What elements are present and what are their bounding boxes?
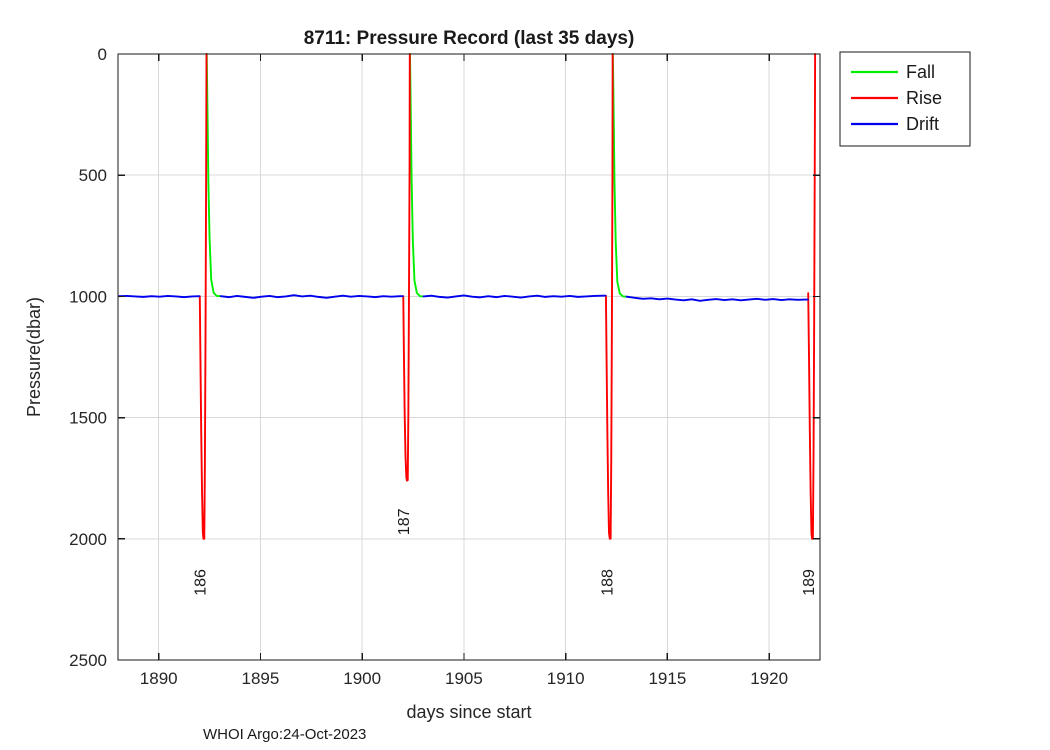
legend-label-drift: Drift <box>906 114 939 134</box>
x-tick-label: 1910 <box>547 669 585 688</box>
x-tick-label: 1905 <box>445 669 483 688</box>
footer-credit: WHOI Argo:24-Oct-2023 <box>203 726 366 743</box>
page-title: 8711: Pressure Record (last 35 days) <box>304 28 635 49</box>
x-tick-label: 1915 <box>648 669 686 688</box>
x-tick-label: 1920 <box>750 669 788 688</box>
y-tick-label: 1500 <box>69 409 107 428</box>
chart-canvas: 1890189519001905191019151920050010001500… <box>0 0 1050 750</box>
y-tick-label: 0 <box>98 45 107 64</box>
legend-label-fall: Fall <box>906 62 935 82</box>
x-tick-label: 1895 <box>242 669 280 688</box>
x-axis-title: days since start <box>406 702 531 722</box>
pressure-record-figure: 1890189519001905191019151920050010001500… <box>0 0 1050 750</box>
y-tick-label: 500 <box>79 166 107 185</box>
cycle-number-label: 189 <box>801 569 818 596</box>
x-tick-label: 1890 <box>140 669 178 688</box>
cycle-number-label: 187 <box>396 508 413 535</box>
cycle-number-label: 186 <box>192 569 209 596</box>
cycle-number-label: 188 <box>599 569 616 596</box>
y-axis-title: Pressure(dbar) <box>24 297 44 417</box>
legend-label-rise: Rise <box>906 88 942 108</box>
plot-background <box>118 54 820 660</box>
x-tick-label: 1900 <box>343 669 381 688</box>
y-tick-label: 2500 <box>69 651 107 670</box>
series-segment <box>119 296 199 297</box>
legend[interactable]: FallRiseDrift <box>840 52 970 146</box>
y-tick-label: 1000 <box>69 287 107 306</box>
y-tick-label: 2000 <box>69 530 107 549</box>
